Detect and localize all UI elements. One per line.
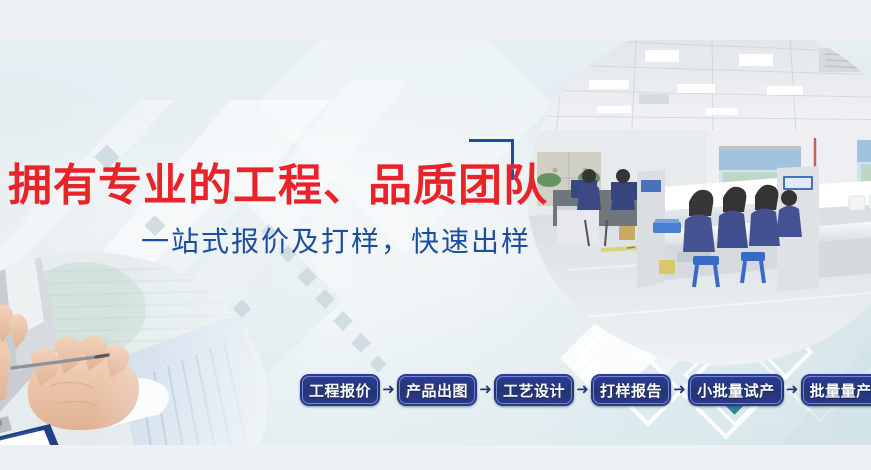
factory-office-scene	[527, 40, 871, 365]
process-step-3-label: 工艺设计	[503, 380, 565, 401]
process-step-2-label: 产品出图	[406, 380, 468, 401]
top-band	[0, 0, 871, 40]
factory-office-photo	[527, 40, 871, 365]
promo-banner: 拥有专业的工程、品质团队 一站式报价及打样，快速出样 工程报价 ➜ 产品出图 ➜…	[0, 0, 871, 470]
flow-arrow-icon-4: ➜	[671, 383, 688, 397]
process-step-6-label: 批量量产	[810, 380, 871, 401]
process-step-5-label: 小批量试产	[697, 380, 775, 401]
flow-arrow-icon-1: ➜	[380, 383, 397, 397]
process-step-6[interactable]: 批量量产	[801, 374, 871, 406]
banner-headline: 拥有专业的工程、品质团队	[8, 162, 548, 210]
business-meeting-photo	[0, 252, 268, 445]
process-step-1-label: 工程报价	[309, 380, 371, 401]
flow-arrow-icon-5: ➜	[784, 383, 801, 397]
banner-subheadline: 一站式报价及打样，快速出样	[141, 225, 531, 259]
flow-arrow-icon-3: ➜	[574, 383, 591, 397]
process-flow: 工程报价 ➜ 产品出图 ➜ 工艺设计 ➜ 打样报告 ➜ 小批量试产 ➜ 批量量产	[300, 374, 871, 406]
process-step-5[interactable]: 小批量试产	[688, 374, 784, 406]
process-step-4-label: 打样报告	[600, 380, 662, 401]
flow-arrow-icon-2: ➜	[477, 383, 494, 397]
process-step-4[interactable]: 打样报告	[591, 374, 671, 406]
process-step-1[interactable]: 工程报价	[300, 374, 380, 406]
process-step-3[interactable]: 工艺设计	[494, 374, 574, 406]
banner-stage: 拥有专业的工程、品质团队 一站式报价及打样，快速出样 工程报价 ➜ 产品出图 ➜…	[0, 40, 871, 445]
bottom-band	[0, 445, 871, 470]
photo-left-fade	[0, 252, 268, 445]
process-step-2[interactable]: 产品出图	[397, 374, 477, 406]
